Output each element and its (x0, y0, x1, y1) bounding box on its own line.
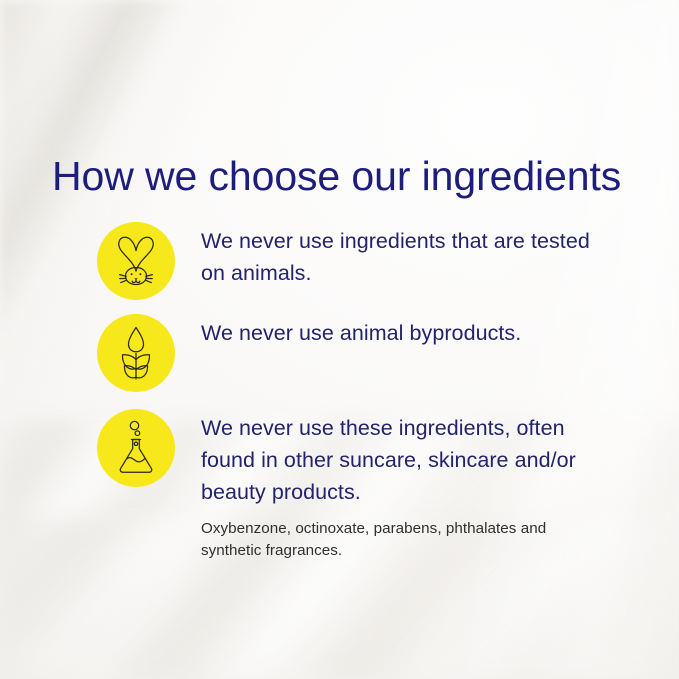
icon-badge-plant-based (97, 314, 175, 392)
benefit-list: We never use ingredients that are tested… (97, 222, 637, 562)
flask-bubbles-icon (113, 420, 159, 476)
benefit-text-block: We never use ingredients that are tested… (175, 222, 637, 289)
plant-leaf-icon (113, 325, 159, 381)
benefit-statement: We never use ingredients that are tested… (201, 225, 601, 289)
ingredient-philosophy-infographic: How we choose our ingredients (0, 0, 679, 679)
benefit-note: Oxybenzone, octinoxate, parabens, phthal… (201, 518, 561, 562)
content-area: How we choose our ingredients (0, 0, 679, 679)
benefit-text-block: We never use animal byproducts. (175, 314, 637, 349)
benefit-row: We never use ingredients that are tested… (97, 222, 637, 300)
benefit-row: We never use these ingredients, often fo… (97, 409, 637, 562)
benefit-statement: We never use these ingredients, often fo… (201, 412, 611, 508)
icon-badge-cruelty-free (97, 222, 175, 300)
benefit-text-block: We never use these ingredients, often fo… (175, 409, 637, 562)
page-title: How we choose our ingredients (52, 151, 621, 201)
benefit-statement: We never use animal byproducts. (201, 317, 601, 349)
benefit-row: We never use animal byproducts. (97, 314, 637, 392)
bunny-heart-ears-icon (110, 233, 162, 289)
icon-badge-no-harsh-chemicals (97, 409, 175, 487)
